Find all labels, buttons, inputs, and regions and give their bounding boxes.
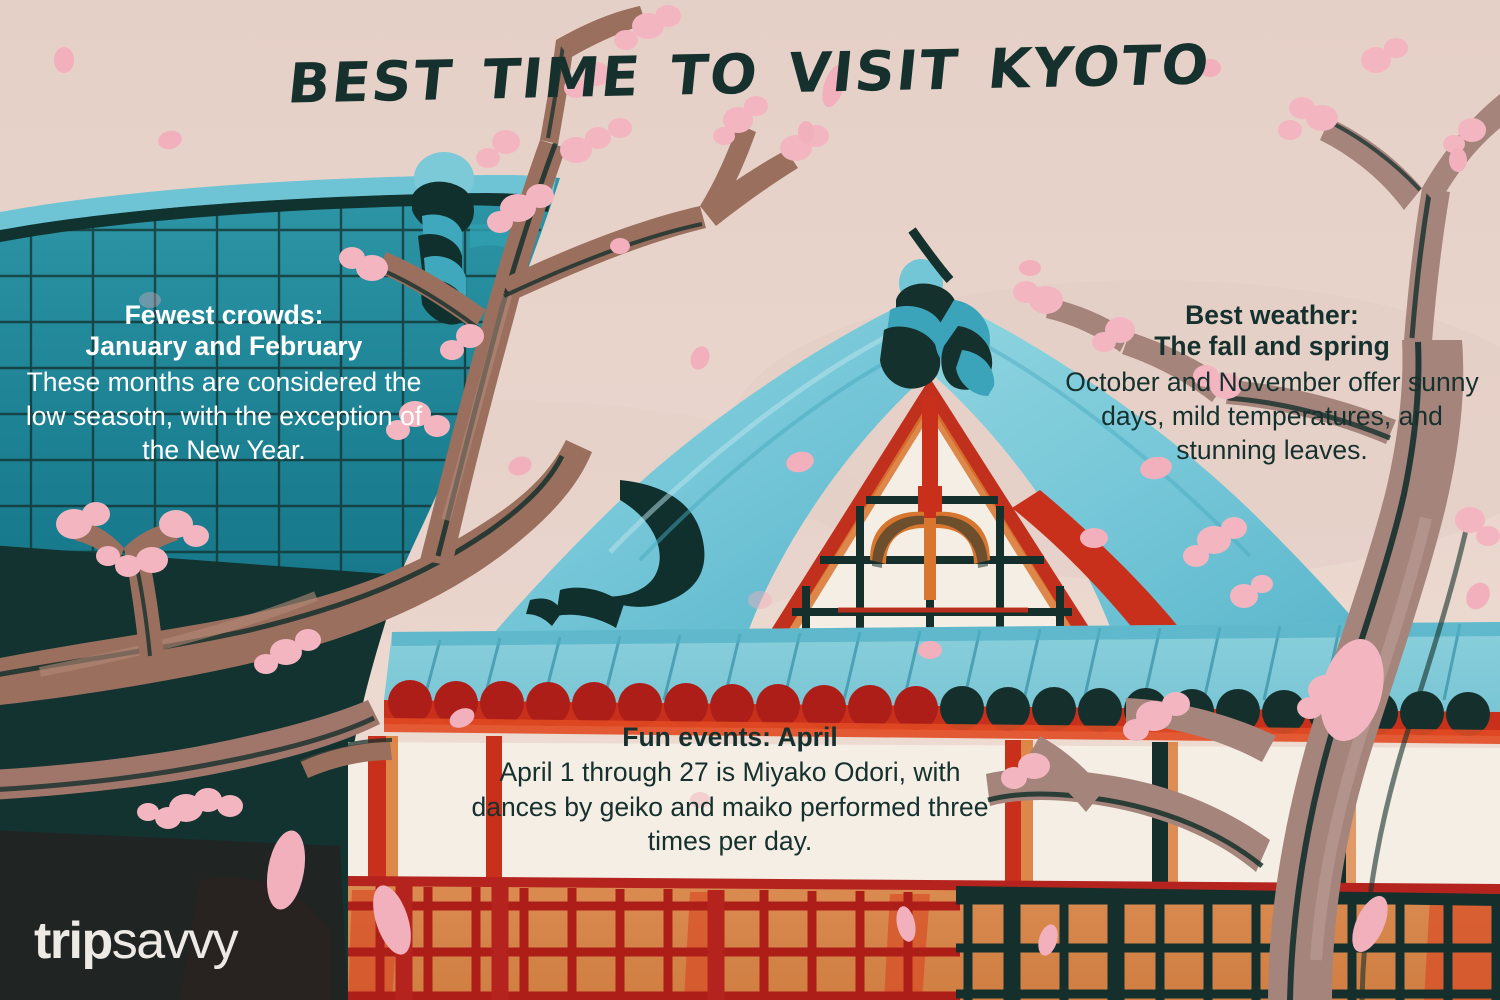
infographic-canvas: Best Time to Visit Kyoto Fewest crowds: …: [0, 0, 1500, 1000]
callout-body: These months are considered the low seas…: [14, 365, 434, 468]
callout-heading-line2: January and February: [86, 331, 363, 361]
logo-word-savvy: savvy: [112, 912, 237, 970]
callout-heading: Best weather: The fall and spring: [1052, 300, 1492, 363]
callout-fun-events: Fun events: April April 1 through 27 is …: [470, 722, 990, 859]
callout-body: October and November offer sunny days, m…: [1052, 365, 1492, 468]
callout-body: April 1 through 27 is Miyako Odori, with…: [470, 755, 990, 858]
callout-best-weather: Best weather: The fall and spring Octobe…: [1052, 300, 1492, 468]
callout-fewest-crowds: Fewest crowds: January and February Thes…: [14, 300, 434, 468]
tripsavvy-logo[interactable]: tripsavvy: [34, 915, 237, 967]
callout-heading-line1: Best weather:: [1185, 300, 1359, 330]
callout-heading-line1: Fewest crowds:: [125, 300, 324, 330]
callout-heading-line2: The fall and spring: [1154, 331, 1390, 361]
callout-heading: Fun events: April: [470, 722, 990, 753]
callout-heading: Fewest crowds: January and February: [14, 300, 434, 363]
logo-word-trip: trip: [34, 912, 112, 970]
